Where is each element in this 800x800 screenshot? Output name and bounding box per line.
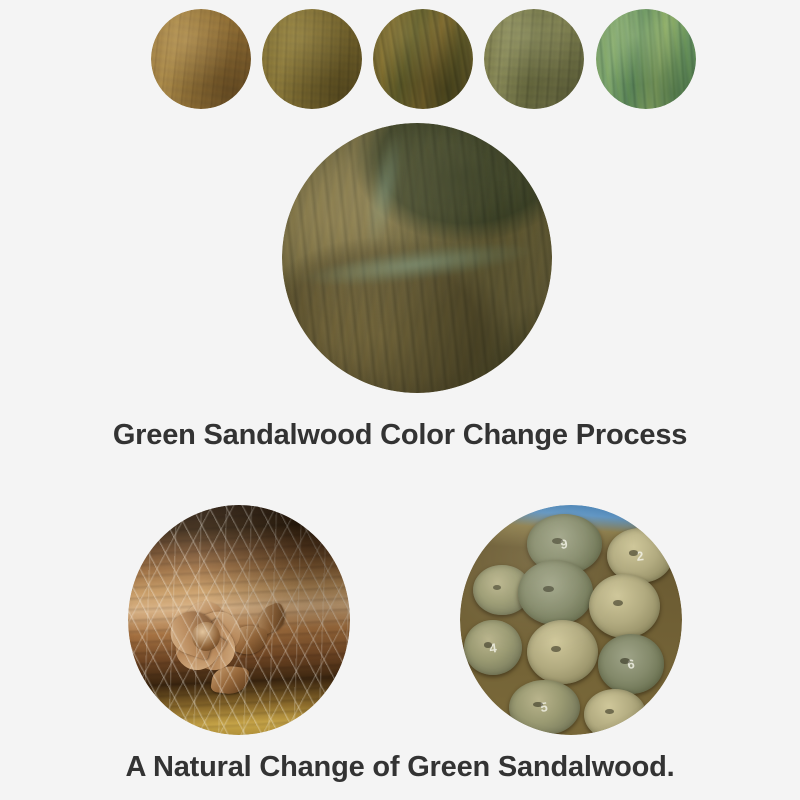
swatch-shading <box>596 9 696 109</box>
carved-flower-bracelet <box>128 505 350 735</box>
bead-shading <box>282 123 552 393</box>
green-sandalwood-bead-closeup <box>282 123 552 393</box>
product-detail-page: Green Sandalwood Color Change Process 9 <box>0 0 800 800</box>
swatch-shading <box>373 9 473 109</box>
color-swatch-stage-1[interactable] <box>151 9 251 109</box>
color-swatch-stage-2[interactable] <box>262 9 362 109</box>
bottom-caption: A Natural Change of Green Sandalwood. <box>0 751 800 784</box>
bracelet-shading <box>128 505 350 735</box>
stacked-sandalwood-logs: 9 2 4 6 5 <box>460 505 682 735</box>
swatch-shading <box>262 9 362 109</box>
logs-shading <box>460 505 682 735</box>
color-swatch-stage-3[interactable] <box>373 9 473 109</box>
swatch-shading <box>151 9 251 109</box>
color-stage-swatch-row <box>0 0 800 122</box>
page-title: Green Sandalwood Color Change Process <box>0 419 800 452</box>
color-swatch-stage-4[interactable] <box>484 9 584 109</box>
color-swatch-stage-5[interactable] <box>596 9 696 109</box>
swatch-shading <box>484 9 584 109</box>
